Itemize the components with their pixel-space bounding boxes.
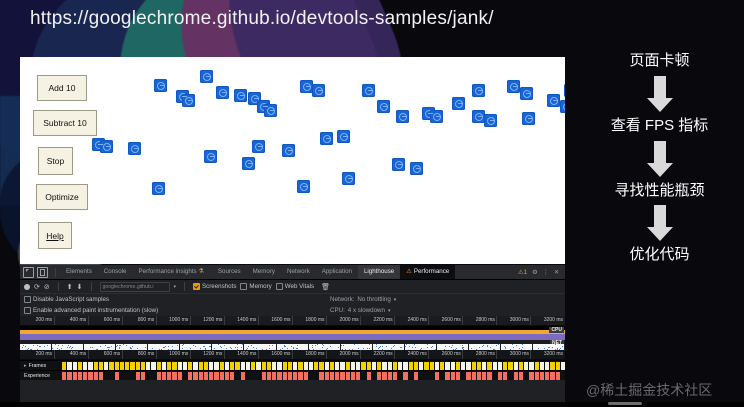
- experience-block: [225, 372, 229, 380]
- profile-select[interactable]: googlechrome.github.i: [100, 282, 170, 292]
- cpu-throttling-control[interactable]: CPU: 4 x slowdown ▾: [330, 307, 390, 314]
- ruler-tick-label: 3200 ms: [544, 316, 565, 325]
- help-link[interactable]: Help: [38, 222, 72, 249]
- experience-block: [188, 372, 192, 380]
- experience-block: [393, 372, 397, 380]
- tile-icon: [154, 79, 167, 92]
- experience-block: [199, 372, 203, 380]
- frame-block: [230, 362, 234, 370]
- experience-block: [409, 372, 413, 380]
- frame-block: [382, 362, 386, 370]
- experience-block: [88, 372, 92, 380]
- experience-block: [545, 372, 549, 380]
- overview-time-ruler[interactable]: 200 ms400 ms600 ms800 ms1000 ms1200 ms14…: [20, 316, 565, 326]
- experience-block: [524, 372, 528, 380]
- checkbox-box: [276, 283, 283, 290]
- experience-block: [356, 372, 360, 380]
- experience-block: [314, 372, 318, 380]
- ruler-tick-label: 2800 ms: [476, 350, 497, 359]
- frame-block: [188, 362, 192, 370]
- frame-block: [514, 362, 518, 370]
- ruler-tick-label: 200 ms: [36, 316, 54, 325]
- experience-block: [435, 372, 439, 380]
- tile-icon: [234, 89, 247, 102]
- frame-block: [220, 362, 224, 370]
- experience-label-text: Experience: [24, 373, 50, 379]
- devtools-tabbar-actions: ⚠1 ⚙ ⋮ ✕: [518, 269, 562, 276]
- inspect-element-icon[interactable]: [23, 267, 34, 278]
- tile-icon: [547, 94, 560, 107]
- experience-block: [214, 372, 218, 380]
- experience-block: [456, 372, 460, 380]
- experience-block: [382, 372, 386, 380]
- flow-arrow-3: [647, 205, 673, 241]
- frame-block: [556, 362, 560, 370]
- experience-block: [283, 372, 287, 380]
- stop-button[interactable]: Stop: [38, 147, 73, 175]
- frame-block: [199, 362, 203, 370]
- tab-performance-insights[interactable]: Performance insights ⚗: [133, 265, 212, 279]
- flow-step-4: 优化代码: [595, 246, 725, 265]
- track-frames[interactable]: ▸Frames: [20, 360, 565, 370]
- frames-bar: [62, 362, 565, 370]
- frame-block: [325, 362, 329, 370]
- experience-block: [209, 372, 213, 380]
- ruler-tick-label: 1200 ms: [203, 316, 224, 325]
- frame-block: [235, 362, 239, 370]
- tile-icon: [377, 100, 390, 113]
- device-toolbar-icon[interactable]: [37, 267, 48, 278]
- checkbox-box: [24, 307, 31, 314]
- performance-toolbar: ⟳ ⊘ ⬆ ⬇ googlechrome.github.i ▾ Screensh…: [20, 280, 565, 294]
- frame-block: [62, 362, 66, 370]
- more-options-icon[interactable]: ⋮: [543, 269, 549, 276]
- frame-block: [262, 362, 266, 370]
- frame-block: [340, 362, 344, 370]
- frame-block: [167, 362, 171, 370]
- frame-block: [109, 362, 113, 370]
- tab-performance-label: Performance: [414, 268, 449, 275]
- frame-block: [283, 362, 287, 370]
- load-profile-icon[interactable]: ⬆: [67, 283, 73, 291]
- frame-block: [104, 362, 108, 370]
- tab-console[interactable]: Console: [98, 265, 133, 279]
- ruler-tick-label: 2400 ms: [408, 350, 429, 359]
- frame-block: [225, 362, 229, 370]
- experience-block: [262, 372, 266, 380]
- tab-performance-insights-label: Performance insights: [139, 268, 197, 275]
- tile-icon: [396, 110, 409, 123]
- ruler-tick-label: 1600 ms: [271, 350, 292, 359]
- cpu-throttling-label: CPU:: [330, 307, 345, 314]
- experience-block: [272, 372, 276, 380]
- ruler-tick-label: 1000 ms: [169, 350, 190, 359]
- ruler-tick-label: 2400 ms: [408, 316, 429, 325]
- frame-block: [330, 362, 334, 370]
- frame-block: [130, 362, 134, 370]
- frame-block: [435, 362, 439, 370]
- frame-block: [419, 362, 423, 370]
- reload-record-icon[interactable]: ⟳: [34, 283, 40, 291]
- divider: [91, 282, 92, 291]
- experience-block: [309, 372, 313, 380]
- experience-block: [246, 372, 250, 380]
- frame-block: [430, 362, 434, 370]
- experience-block: [461, 372, 465, 380]
- screenshots-label: Screenshots: [202, 283, 236, 290]
- tile-icon: [392, 158, 405, 171]
- tile-icon: [342, 172, 355, 185]
- ruler-tick-label: 2000 ms: [339, 350, 360, 359]
- experience-block: [251, 372, 255, 380]
- gear-icon[interactable]: ⚙: [532, 269, 538, 276]
- experience-block: [83, 372, 87, 380]
- frame-block: [440, 362, 444, 370]
- frame-block: [151, 362, 155, 370]
- scroll-nub: [608, 402, 642, 405]
- experience-block: [277, 372, 281, 380]
- flow-step-3: 寻找性能瓶颈: [595, 182, 725, 201]
- close-icon[interactable]: ✕: [554, 269, 559, 276]
- page-title: https://googlechrome.github.io/devtools-…: [30, 8, 494, 30]
- experience-block: [482, 372, 486, 380]
- experience-block: [220, 372, 224, 380]
- experience-block: [561, 372, 565, 380]
- experience-block: [193, 372, 197, 380]
- experience-block: [487, 372, 491, 380]
- experience-block: [403, 372, 407, 380]
- frame-block: [540, 362, 544, 370]
- frame-block: [445, 362, 449, 370]
- advanced-paint-label: Enable advanced paint instrumentation (s…: [33, 307, 158, 314]
- frame-block: [246, 362, 250, 370]
- bottom-bar: [0, 402, 744, 407]
- experience-block: [540, 372, 544, 380]
- frame-block: [309, 362, 313, 370]
- devtools-panel: Elements Console Performance insights ⚗ …: [20, 265, 565, 407]
- experience-block: [62, 372, 66, 380]
- experience-block: [556, 372, 560, 380]
- stop-label: Stop: [47, 156, 65, 166]
- cpu-throttling-value: 4 x slowdown: [348, 307, 385, 314]
- frame-block: [183, 362, 187, 370]
- advanced-paint-row[interactable]: Enable advanced paint instrumentation (s…: [20, 305, 565, 316]
- clear-icon[interactable]: ⊘: [44, 283, 50, 291]
- frame-block: [256, 362, 260, 370]
- frame-block: [288, 362, 292, 370]
- frame-block: [146, 362, 150, 370]
- tile-icon: [560, 100, 565, 113]
- frame-block: [267, 362, 271, 370]
- cpu-band-top: [20, 330, 565, 334]
- experience-block: [162, 372, 166, 380]
- experience-block: [398, 372, 402, 380]
- tile-icon: [472, 84, 485, 97]
- frame-block: [466, 362, 470, 370]
- cpu-overview-track: CPU: [20, 326, 565, 340]
- devtools-tabbar: Elements Console Performance insights ⚗ …: [20, 265, 565, 280]
- memory-checkbox[interactable]: Memory: [240, 283, 271, 290]
- frame-block: [83, 362, 87, 370]
- frame-block: [214, 362, 218, 370]
- frame-block: [193, 362, 197, 370]
- experience-block: [94, 372, 98, 380]
- frame-block: [141, 362, 145, 370]
- frame-block: [403, 362, 407, 370]
- experience-block: [293, 372, 297, 380]
- experience-block: [120, 372, 124, 380]
- watermark: @稀土掘金技术社区: [586, 380, 712, 400]
- subtract-10-label: Subtract 10: [43, 118, 86, 128]
- record-icon[interactable]: [24, 284, 30, 290]
- frame-block: [550, 362, 554, 370]
- tile-icon: [320, 132, 333, 145]
- ruler-tick-label: 1000 ms: [169, 316, 190, 325]
- experience-block: [109, 372, 113, 380]
- tile-icon: [204, 150, 217, 163]
- frame-block: [94, 362, 98, 370]
- issue-count: 1: [524, 269, 527, 276]
- ruler-tick-label: 1200 ms: [203, 350, 224, 359]
- experience-block: [146, 372, 150, 380]
- tab-network[interactable]: Network: [281, 265, 316, 279]
- frame-block: [424, 362, 428, 370]
- tile-icon: [337, 130, 350, 143]
- experience-block: [451, 372, 455, 380]
- tile-icon: [200, 70, 213, 83]
- experience-block: [372, 372, 376, 380]
- frame-block: [277, 362, 281, 370]
- issue-badge[interactable]: ⚠1: [518, 269, 527, 276]
- experience-block: [178, 372, 182, 380]
- tile-icon: [242, 157, 255, 170]
- frame-block: [67, 362, 71, 370]
- experience-block: [550, 372, 554, 380]
- divider: [58, 282, 59, 291]
- ruler-tick-label: 2000 ms: [339, 316, 360, 325]
- flame-chart-time-ruler[interactable]: 200 ms400 ms600 ms800 ms1000 ms1200 ms14…: [20, 350, 565, 360]
- experience-block: [367, 372, 371, 380]
- experimental-icon: ⚗: [198, 268, 204, 275]
- disable-js-samples-checkbox[interactable]: Disable JavaScript samples: [24, 296, 109, 303]
- frame-block: [398, 362, 402, 370]
- experience-block: [115, 372, 119, 380]
- experience-block: [130, 372, 134, 380]
- frame-block: [372, 362, 376, 370]
- experience-block: [472, 372, 476, 380]
- frame-block: [204, 362, 208, 370]
- chevron-right-icon: ▸: [24, 363, 27, 369]
- frame-block: [356, 362, 360, 370]
- experience-block: [298, 372, 302, 380]
- experience-block: [99, 372, 103, 380]
- flow-step-2: 查看 FPS 指标: [595, 117, 725, 136]
- experience-block: [256, 372, 260, 380]
- tile-icon: [507, 80, 520, 93]
- experience-block: [430, 372, 434, 380]
- experience-bar: [62, 372, 565, 380]
- frame-block: [367, 362, 371, 370]
- frame-block: [472, 362, 476, 370]
- ruler-tick-label: 2800 ms: [476, 316, 497, 325]
- track-experience-label[interactable]: Experience: [20, 373, 62, 379]
- experience-block: [125, 372, 129, 380]
- frame-block: [136, 362, 140, 370]
- ruler-tick-label: 600 ms: [104, 350, 122, 359]
- frame-block: [88, 362, 92, 370]
- ruler-tick-label: 1600 ms: [271, 316, 292, 325]
- frame-block: [251, 362, 255, 370]
- add-10-button[interactable]: Add 10: [37, 75, 87, 101]
- tile-icon: [484, 114, 497, 127]
- ruler-tick-label: 1400 ms: [237, 316, 258, 325]
- optimize-label: Optimize: [45, 192, 79, 202]
- save-profile-icon[interactable]: ⬇: [77, 283, 83, 291]
- experience-block: [508, 372, 512, 380]
- network-throttling-value: No throttling: [357, 296, 390, 303]
- tab-lighthouse[interactable]: Lighthouse: [358, 265, 400, 279]
- frame-block: [503, 362, 507, 370]
- frame-block: [346, 362, 350, 370]
- tile-icon: [410, 162, 423, 175]
- experience-block: [529, 372, 533, 380]
- experience-block: [204, 372, 208, 380]
- frame-block: [545, 362, 549, 370]
- frame-block: [125, 362, 129, 370]
- frame-block: [477, 362, 481, 370]
- performance-overview[interactable]: CPU NET: [20, 326, 565, 350]
- experience-block: [241, 372, 245, 380]
- ruler-tick-label: 2200 ms: [374, 316, 395, 325]
- disable-js-samples-row[interactable]: Disable JavaScript samples Network: No t…: [20, 294, 565, 305]
- experience-block: [498, 372, 502, 380]
- experience-block: [351, 372, 355, 380]
- experience-block: [503, 372, 507, 380]
- ruler-tick-label: 1800 ms: [305, 316, 326, 325]
- tile-icon: [312, 84, 325, 97]
- chevron-down-icon[interactable]: ▾: [174, 284, 177, 290]
- experience-block: [172, 372, 176, 380]
- divider: [55, 268, 56, 277]
- subtract-10-button[interactable]: Subtract 10: [33, 110, 97, 136]
- experience-block: [78, 372, 82, 380]
- frame-block: [487, 362, 491, 370]
- cpu-label: CPU: [549, 327, 564, 333]
- frame-block: [529, 362, 533, 370]
- experience-block: [73, 372, 77, 380]
- slide-canvas: https://googlechrome.github.io/devtools-…: [0, 0, 744, 407]
- optimize-button[interactable]: Optimize: [36, 184, 88, 210]
- frame-block: [120, 362, 124, 370]
- experience-block: [325, 372, 329, 380]
- demo-page-screenshot: Add 10 Subtract 10 Stop Optimize Help: [20, 57, 565, 264]
- experience-block: [388, 372, 392, 380]
- experience-block: [424, 372, 428, 380]
- advanced-paint-checkbox[interactable]: Enable advanced paint instrumentation (s…: [24, 307, 158, 314]
- experience-block: [340, 372, 344, 380]
- frame-block: [388, 362, 392, 370]
- frame-block: [482, 362, 486, 370]
- experience-block: [445, 372, 449, 380]
- tile-icon: [152, 182, 165, 195]
- tile-icon: [362, 84, 375, 97]
- disable-js-samples-label: Disable JavaScript samples: [33, 296, 109, 303]
- ruler-tick-label: 3000 ms: [510, 350, 531, 359]
- experience-block: [104, 372, 108, 380]
- tab-elements[interactable]: Elements: [60, 265, 98, 279]
- frames-label-text: Frames: [29, 363, 47, 369]
- experience-block: [330, 372, 334, 380]
- flow-arrow-1: [647, 76, 673, 112]
- experience-block: [319, 372, 323, 380]
- frame-block: [561, 362, 565, 370]
- experience-block: [151, 372, 155, 380]
- experience-block: [535, 372, 539, 380]
- frame-block: [304, 362, 308, 370]
- web-vitals-label: Web Vitals: [285, 283, 314, 290]
- ruler-tick-label: 200 ms: [36, 350, 54, 359]
- tab-memory[interactable]: Memory: [247, 265, 281, 279]
- frame-block: [393, 362, 397, 370]
- add-10-label: Add 10: [49, 83, 76, 93]
- delete-icon[interactable]: 🗑: [321, 283, 330, 291]
- web-vitals-checkbox[interactable]: Web Vitals: [276, 283, 314, 290]
- ruler-tick-label: 3200 ms: [544, 350, 565, 359]
- frame-block: [508, 362, 512, 370]
- ruler-tick-label: 3000 ms: [510, 316, 531, 325]
- frame-block: [493, 362, 497, 370]
- experience-block: [136, 372, 140, 380]
- experience-block: [183, 372, 187, 380]
- frame-block: [293, 362, 297, 370]
- network-throttling-label: Network:: [330, 296, 354, 303]
- tab-application[interactable]: Application: [316, 265, 358, 279]
- track-frames-label[interactable]: ▸Frames: [20, 363, 62, 369]
- ruler-tick-label: 600 ms: [104, 316, 122, 325]
- frame-block: [172, 362, 176, 370]
- tile-icon: [100, 140, 113, 153]
- checkbox-box: [24, 296, 31, 303]
- chevron-down-icon: ▾: [388, 308, 391, 314]
- warning-icon: ⚠: [406, 268, 412, 275]
- experience-block: [304, 372, 308, 380]
- experience-block: [267, 372, 271, 380]
- frame-block: [298, 362, 302, 370]
- experience-block: [288, 372, 292, 380]
- frame-block: [178, 362, 182, 370]
- tab-sources[interactable]: Sources: [212, 265, 247, 279]
- tab-performance[interactable]: ⚠Performance: [400, 265, 455, 279]
- frame-block: [461, 362, 465, 370]
- frame-block: [519, 362, 523, 370]
- checkbox-box: [193, 283, 200, 290]
- experience-block: [377, 372, 381, 380]
- frame-block: [451, 362, 455, 370]
- frame-block: [361, 362, 365, 370]
- experience-block: [346, 372, 350, 380]
- frame-block: [335, 362, 339, 370]
- track-experience[interactable]: Experience: [20, 370, 565, 380]
- experience-block: [414, 372, 418, 380]
- frame-block: [99, 362, 103, 370]
- ruler-tick-label: 1400 ms: [237, 350, 258, 359]
- help-label: Help: [46, 231, 63, 241]
- frame-block: [157, 362, 161, 370]
- flow-arrow-2: [647, 141, 673, 177]
- network-throttling-control[interactable]: Network: No throttling ▾: [330, 296, 396, 303]
- screenshots-checkbox[interactable]: Screenshots: [193, 283, 236, 290]
- flow-diagram: 页面卡顿 查看 FPS 指标 寻找性能瓶颈 优化代码: [575, 52, 744, 407]
